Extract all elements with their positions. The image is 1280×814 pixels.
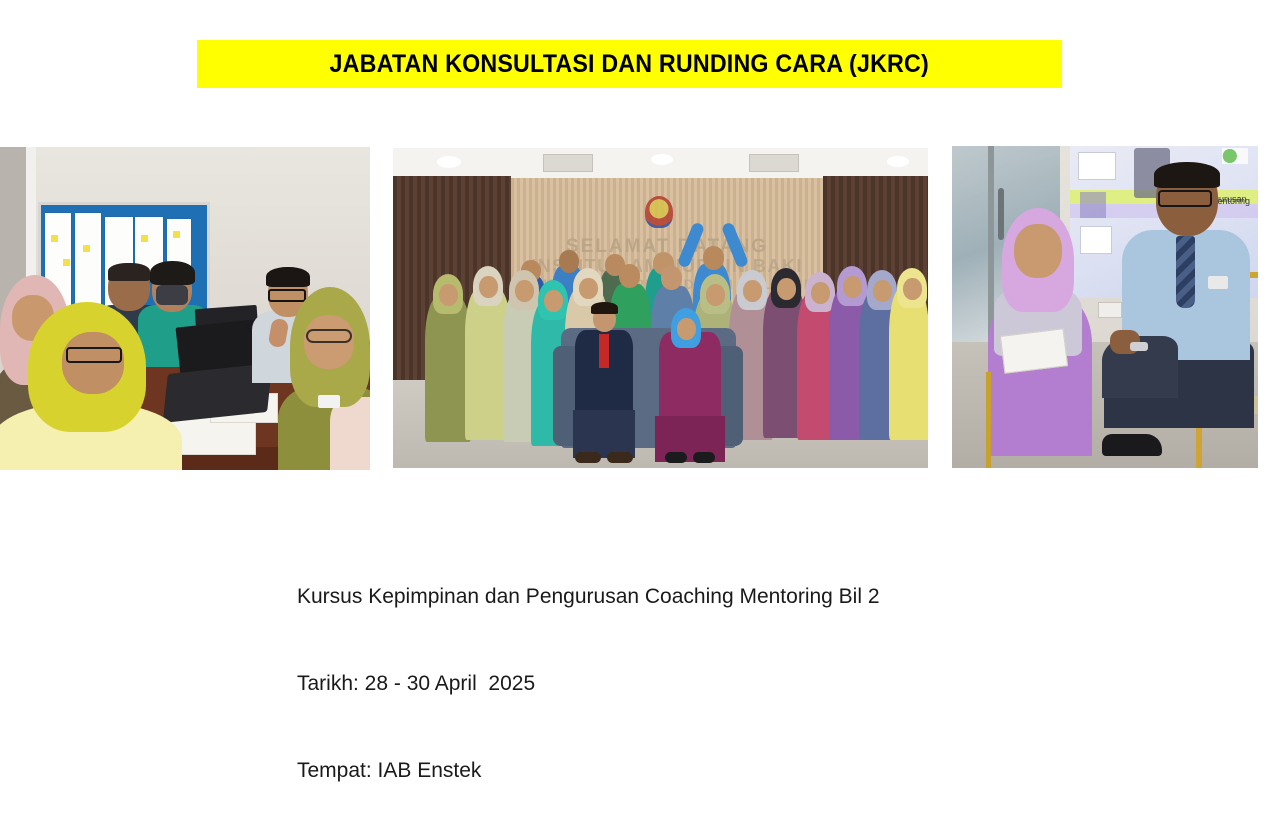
- participant-face: [515, 280, 534, 302]
- slide-thumbnail: [1080, 192, 1106, 218]
- page-title: JABATAN KONSULTASI DAN RUNDING CARA (JKR…: [330, 50, 929, 79]
- clipboard: [1000, 328, 1068, 374]
- participant-face: [843, 276, 862, 298]
- necktie: [599, 334, 609, 368]
- sticky-note: [63, 259, 70, 266]
- group-photo: SELAMAT DATANG INSTITUT AMINUDDIN BAKI K…: [393, 148, 928, 468]
- ceiling-light: [651, 154, 673, 165]
- ceiling-light: [887, 156, 909, 167]
- wristwatch: [1130, 342, 1148, 351]
- title-banner: JABATAN KONSULTASI DAN RUNDING CARA (JKR…: [197, 40, 1062, 88]
- participant-hair: [266, 267, 310, 287]
- participant-face: [743, 280, 762, 302]
- slide-thumbnail: [1078, 152, 1116, 180]
- shoe: [665, 452, 687, 463]
- chair: [986, 372, 1087, 468]
- participant-face: [439, 284, 458, 306]
- photo-3-scene: dan Pengurusan Mentoring: [952, 146, 1258, 468]
- workshop-discussion-photo: [0, 147, 370, 470]
- participant-face: [873, 280, 892, 302]
- name-badge: [318, 395, 340, 408]
- participant-face: [479, 276, 498, 298]
- wall-outlet: [1098, 302, 1122, 318]
- sticky-note: [141, 235, 148, 242]
- necktie: [1176, 236, 1195, 308]
- participant-head: [703, 246, 724, 270]
- eyeglasses: [1158, 190, 1212, 207]
- ceiling-vent: [543, 154, 593, 172]
- participant-hair: [150, 261, 195, 285]
- participant-face: [811, 282, 830, 304]
- door-handle: [998, 188, 1004, 240]
- shoe: [693, 452, 715, 463]
- participant-hair: [108, 263, 150, 281]
- malaysia-coat-of-arms: [645, 196, 673, 228]
- sticky-note: [173, 231, 180, 238]
- participant-face: [777, 278, 796, 300]
- participant-face: [544, 290, 563, 312]
- participant-face: [579, 278, 598, 299]
- caption-block: Kursus Kepimpinan dan Pengurusan Coachin…: [297, 524, 880, 814]
- ceiling-vent: [749, 154, 799, 172]
- sticky-note: [51, 235, 58, 242]
- coach-hair: [1154, 162, 1220, 188]
- caption-line-3: Tempat: IAB Enstek: [297, 756, 880, 785]
- participant-head: [661, 266, 682, 290]
- seated-vip-face: [677, 318, 696, 340]
- participant-face: [706, 284, 725, 306]
- caption-line-1: Kursus Kepimpinan dan Pengurusan Coachin…: [297, 582, 880, 611]
- caption-line-2: Tarikh: 28 - 30 April 2025: [297, 669, 880, 698]
- sticky-note: [83, 245, 90, 252]
- name-badge: [1208, 276, 1228, 289]
- participant-face: [903, 278, 922, 300]
- eyeglasses: [306, 329, 352, 343]
- participant-head: [619, 264, 640, 288]
- slide-logo: [1222, 148, 1248, 164]
- eyeglasses: [268, 289, 306, 302]
- participant-body: [889, 288, 928, 440]
- photo-1-scene: [0, 147, 370, 470]
- coaching-session-photo: dan Pengurusan Mentoring: [952, 146, 1258, 468]
- seated-vip-trousers: [573, 410, 635, 458]
- ceiling-light: [437, 156, 461, 168]
- eyeglasses: [66, 347, 122, 363]
- coachee-hand: [1022, 252, 1038, 276]
- shoe: [607, 452, 633, 463]
- slide-thumbnail: [1080, 226, 1112, 254]
- participant-head: [559, 250, 579, 273]
- participant-face: [62, 332, 124, 394]
- shoe: [1102, 434, 1162, 456]
- photo-2-scene: SELAMAT DATANG INSTITUT AMINUDDIN BAKI K…: [393, 148, 928, 468]
- shoe: [575, 452, 601, 463]
- face-mask: [156, 285, 188, 305]
- seated-vip-hair: [591, 302, 618, 314]
